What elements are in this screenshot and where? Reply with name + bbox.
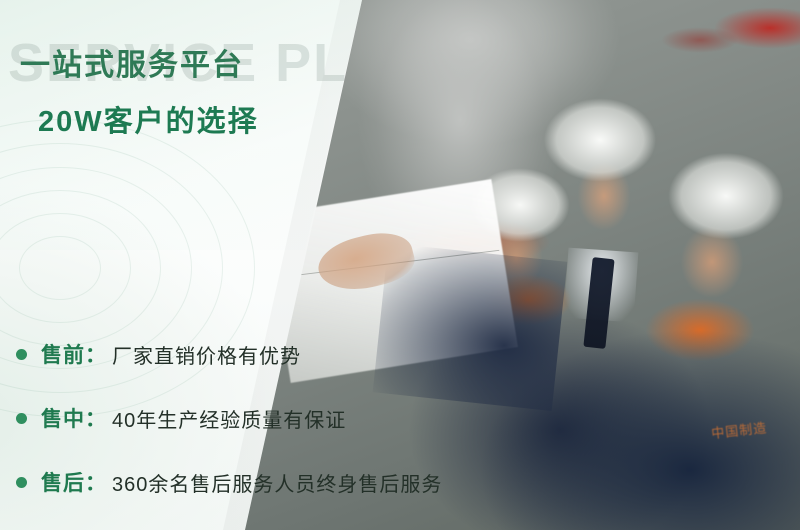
bullet-colon: ： bbox=[85, 339, 106, 369]
bullet-dot-icon bbox=[16, 349, 27, 360]
bullet-text-primary: 360余名售后服务人员 bbox=[112, 468, 316, 497]
bullet-text-primary: 厂家直销 bbox=[112, 340, 196, 369]
bullet-dot-icon bbox=[16, 413, 27, 424]
bullet-colon: ： bbox=[85, 467, 106, 497]
bullet-dot-icon bbox=[16, 477, 27, 488]
page-subtitle: 20W客户的选择 bbox=[38, 98, 259, 140]
bullet-label: 售前 bbox=[41, 339, 85, 369]
bullet-text-secondary: 质量有保证 bbox=[241, 404, 346, 433]
page-title: 一站式服务平台 bbox=[20, 40, 244, 84]
service-bullet-list: 售前 ： 厂家直销 价格有优势 售中 ： 40年生产经验 质量有保证 售后 ： … bbox=[16, 322, 656, 514]
bullet-text-secondary: 价格有优势 bbox=[196, 340, 301, 369]
list-item: 售后 ： 360余名售后服务人员 终身售后服务 bbox=[16, 450, 656, 514]
list-item: 售前 ： 厂家直销 价格有优势 bbox=[16, 322, 656, 386]
bullet-label: 售中 bbox=[41, 403, 85, 433]
list-item: 售中 ： 40年生产经验 质量有保证 bbox=[16, 386, 656, 450]
bullet-text-secondary: 终身售后服务 bbox=[316, 468, 442, 497]
bullet-colon: ： bbox=[85, 403, 106, 433]
service-banner: 中国制造 SERVICE PL 一站式服务平台 20W客户的选择 售前 ： 厂家… bbox=[0, 0, 800, 530]
bullet-text-primary: 40年生产经验 bbox=[112, 404, 241, 433]
uniform-badge-text: 中国制造 bbox=[703, 418, 782, 495]
bullet-label: 售后 bbox=[41, 467, 85, 497]
